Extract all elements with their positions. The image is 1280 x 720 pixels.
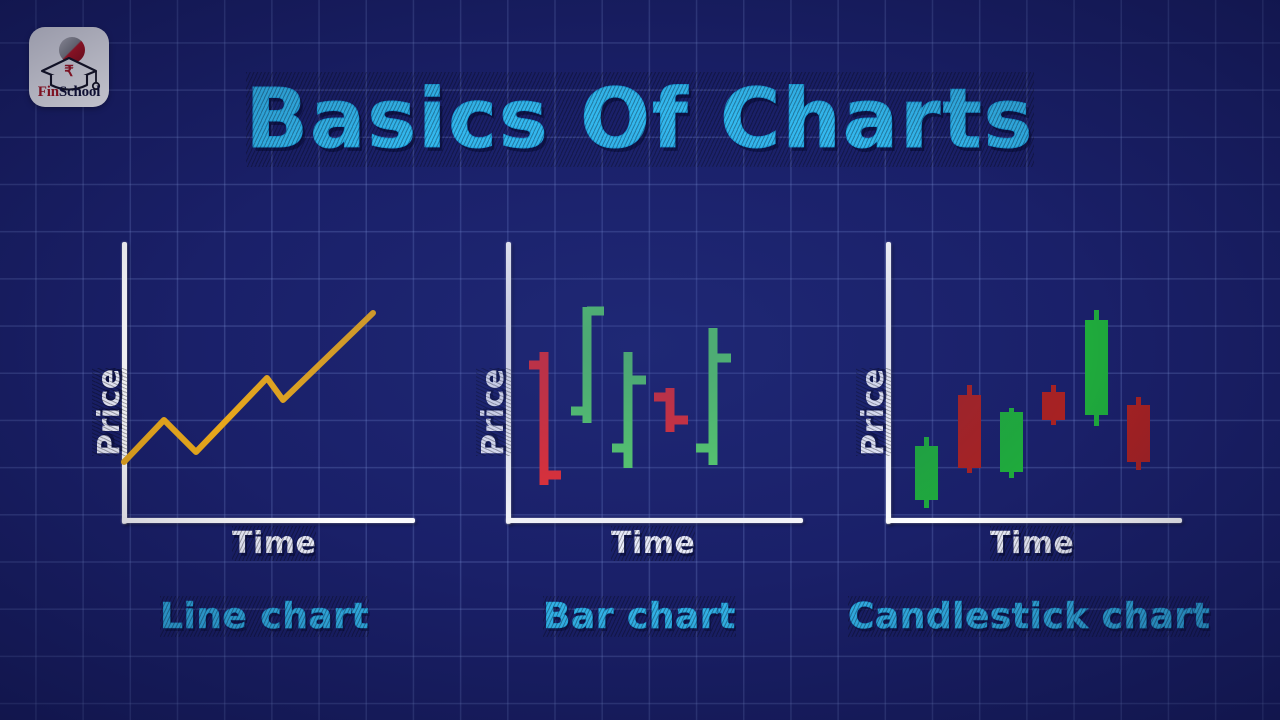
ohlc-bar [529,352,561,485]
bar-chart-plot [485,236,815,536]
line-chart-caption: Line chart [160,596,369,637]
bar-chart-x-label: Time [611,526,695,561]
bar-chart-panel: Price Time [485,236,815,536]
candlestick [1127,397,1150,470]
line-chart-plot [100,236,440,536]
candlestick-chart-x-label: Time [990,526,1074,561]
line-chart-y-label: Price [92,368,127,456]
ohlc-bar [571,307,604,423]
candlestick-chart-panel: Price Time [868,236,1198,536]
candlestick-chart-y-label: Price [856,368,891,456]
page-title-text: Basics Of Charts [246,72,1035,167]
bar-chart-caption: Bar chart [543,596,736,637]
candlestick [915,437,938,508]
candlestick-chart-plot [868,236,1198,536]
line-chart-panel: Price Time [100,236,440,536]
poster-canvas: ₹ FinSchool Basics Of Charts Price Time [0,0,1280,720]
candlestick [958,385,981,473]
candlestick [1042,385,1065,425]
candlestick [1085,310,1108,426]
candlestick [1000,408,1023,478]
candlestick-chart-caption: Candlestick chart [848,596,1210,637]
page-title: Basics Of Charts [0,72,1280,167]
ohlc-bar [612,352,646,468]
bar-chart-y-label: Price [476,368,511,456]
line-chart-x-label: Time [232,526,316,561]
ohlc-bar [696,328,731,465]
ohlc-bar [654,388,688,432]
